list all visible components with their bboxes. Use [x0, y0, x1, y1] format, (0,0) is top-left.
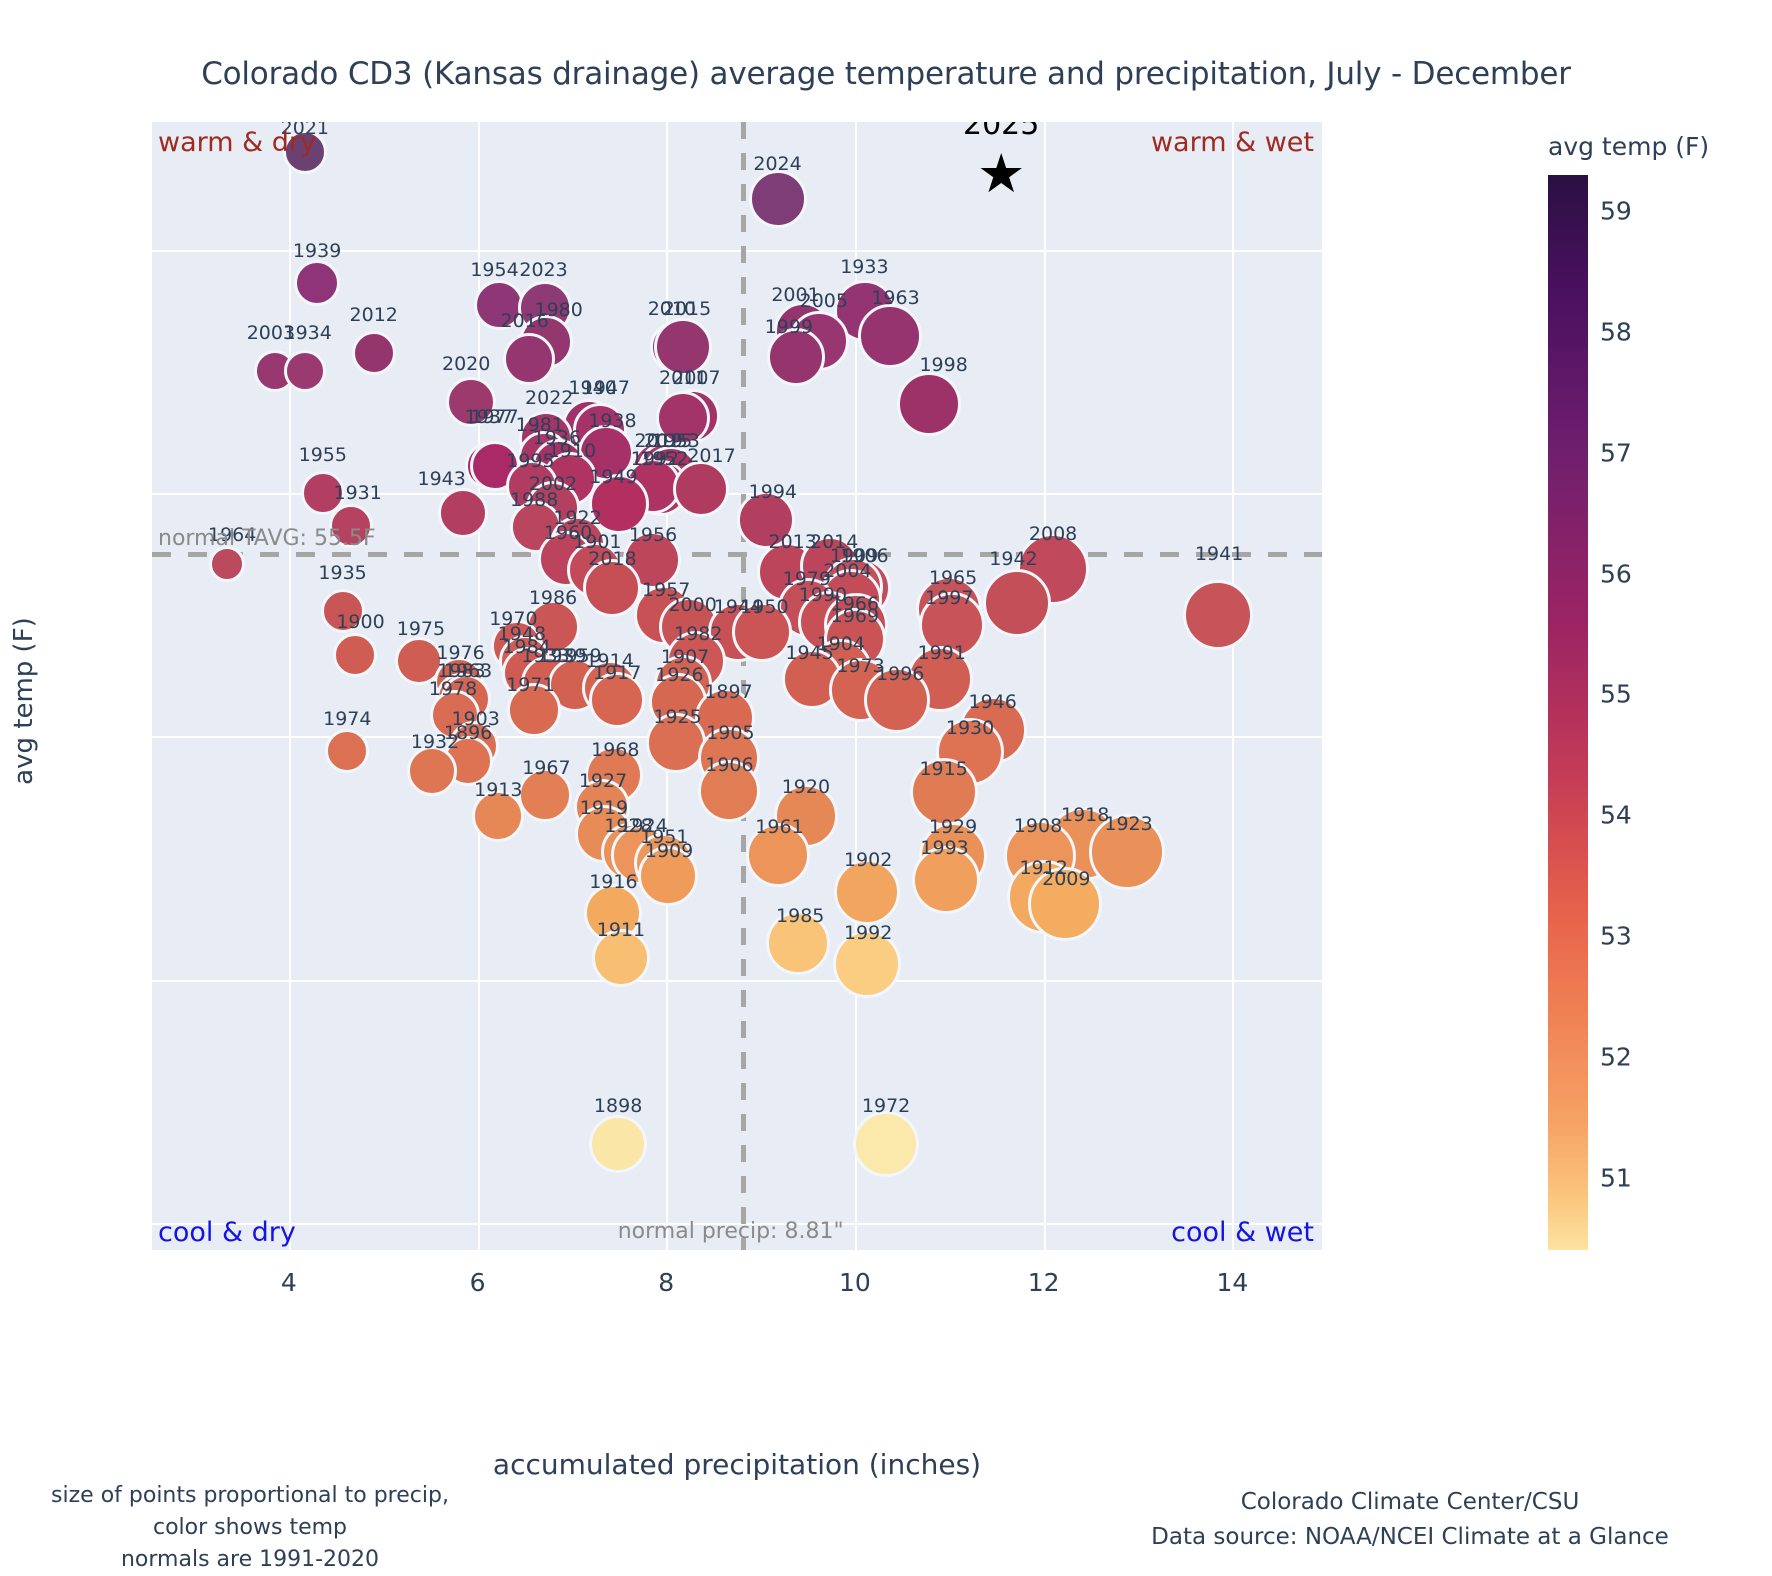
colorbar-title: avg temp (F) [1548, 132, 1709, 161]
colorbar-tick-label: 58 [1600, 318, 1632, 347]
data-point-label: 1995 [506, 452, 554, 471]
data-point[interactable] [333, 633, 377, 677]
colorbar-tick-label: 59 [1600, 197, 1632, 226]
normal-temp-line [152, 552, 1322, 557]
colorbar-tick-label: 55 [1600, 680, 1632, 709]
x-tick-label: 8 [658, 1268, 674, 1297]
data-point-label: 1910 [548, 442, 596, 461]
data-point-label: 1939 [293, 242, 341, 261]
data-point-label: 2008 [1029, 525, 1077, 544]
data-point-label: 1906 [705, 756, 753, 775]
data-point-label: 1947 [582, 379, 630, 398]
data-point-label: 1994 [749, 483, 797, 502]
data-point[interactable] [325, 729, 369, 773]
quadrant-label-warm-wet: warm & wet [1151, 127, 1314, 158]
colorbar-gradient [1548, 175, 1588, 1250]
colorbar-tick-label: 57 [1600, 438, 1632, 467]
data-point-label: 1913 [474, 781, 522, 800]
data-point-label: 1946 [969, 693, 1017, 712]
data-point-label: 1956 [629, 526, 677, 545]
data-point-label: 1963 [871, 289, 919, 308]
highlight-star-label: 2025 [963, 122, 1039, 142]
colorbar-tick-label: 56 [1600, 559, 1632, 588]
data-point[interactable] [897, 372, 961, 436]
colorbar-tick-label: 54 [1600, 801, 1632, 830]
data-point-label: 1911 [597, 921, 645, 940]
data-point-label: 1993 [920, 839, 968, 858]
data-point-label: 1932 [411, 733, 459, 752]
data-point-label: 1927 [579, 772, 627, 791]
data-point-label: 1920 [782, 778, 830, 797]
data-point-label: 2018 [588, 550, 636, 569]
note-line: size of points proportional to precip, [40, 1480, 460, 1512]
data-point[interactable] [983, 569, 1051, 637]
notes-left: size of points proportional to precip,co… [40, 1480, 460, 1576]
data-point-label: 1923 [1104, 815, 1152, 834]
data-point-label: 1915 [919, 760, 967, 779]
note-line: normals are 1991-2020 [40, 1544, 460, 1576]
data-point-label: 1954 [470, 261, 518, 280]
data-point-label: 1985 [776, 907, 824, 926]
data-point-label: 1986 [529, 589, 577, 608]
data-point-label: 2017 [687, 447, 735, 466]
data-point-label: 1929 [929, 818, 977, 837]
data-point-label: 1965 [929, 569, 977, 588]
x-tick-label: 6 [470, 1268, 486, 1297]
data-point-label: 2023 [519, 261, 567, 280]
data-point[interactable] [749, 170, 807, 228]
data-point-label: 1971 [506, 676, 554, 695]
data-point[interactable] [503, 333, 555, 385]
data-point-label: 2011 [659, 369, 707, 388]
x-tick-label: 10 [839, 1268, 871, 1297]
data-point-label: 1917 [593, 664, 641, 683]
data-point-label: 2024 [753, 155, 801, 174]
plot-area: 2021202419391954202319332001196320051980… [152, 122, 1322, 1250]
note-line: Data source: NOAA/NCEI Climate at a Glan… [1130, 1520, 1690, 1555]
data-point-label: 1934 [283, 324, 331, 343]
chart-root: Colorado CD3 (Kansas drainage) average t… [0, 0, 1772, 1564]
data-point[interactable] [294, 260, 340, 306]
data-point-label: 1968 [591, 741, 639, 760]
data-point-label: 1991 [918, 644, 966, 663]
data-point[interactable] [589, 1115, 647, 1173]
highlight-star-icon: ★ [977, 147, 1025, 201]
data-point-label: 1996 [876, 665, 924, 684]
data-point[interactable] [673, 461, 729, 517]
data-point-label: 1933 [840, 258, 888, 277]
gridline-vertical [1044, 122, 1046, 1250]
data-point-label: 1978 [429, 680, 477, 699]
data-point-label: 1949 [589, 468, 637, 487]
data-point[interactable] [438, 488, 488, 538]
data-point-label: 1943 [417, 470, 465, 489]
data-point-label: 1977 [470, 408, 518, 427]
note-line: Colorado Climate Center/CSU [1130, 1485, 1690, 1520]
data-point-label: 1898 [594, 1097, 642, 1116]
data-point-label: 1997 [925, 589, 973, 608]
data-point-label: 1935 [318, 564, 366, 583]
y-axis-label: avg temp (F) [9, 481, 39, 921]
note-line: color shows temp [40, 1512, 460, 1544]
data-point-label: 2012 [350, 306, 398, 325]
data-point-label: 1945 [785, 644, 833, 663]
data-point-label: 1974 [323, 710, 371, 729]
colorbar [1548, 175, 1588, 1250]
data-point-label: 1950 [740, 598, 788, 617]
data-point-label: 2020 [442, 355, 490, 374]
gridline-horizontal [152, 980, 1322, 982]
data-point-label: 1916 [589, 873, 637, 892]
data-point-label: 1905 [706, 724, 754, 743]
quadrant-label-warm-dry: warm & dry [158, 127, 316, 158]
data-point-label: 1931 [334, 484, 382, 503]
data-point-label: 2015 [663, 300, 711, 319]
data-point-label: 1926 [655, 666, 703, 685]
data-point-label: 2009 [1042, 870, 1090, 889]
gridline-vertical [1232, 122, 1234, 1250]
data-point-label: 1982 [674, 625, 722, 644]
data-point-label: 1897 [704, 683, 752, 702]
data-point-label: 1992 [631, 450, 679, 469]
colorbar-tick-label: 51 [1600, 1163, 1632, 1192]
data-point-label: 2005 [800, 292, 848, 311]
data-point-label: 2016 [501, 312, 549, 331]
colorbar-tick-label: 53 [1600, 921, 1632, 950]
data-point-label: 1961 [755, 818, 803, 837]
data-point-label: 1967 [522, 759, 570, 778]
data-point-label: 1955 [299, 446, 347, 465]
data-point-label: 1998 [919, 356, 967, 375]
data-point-label: 2022 [525, 389, 573, 408]
x-tick-label: 4 [281, 1268, 297, 1297]
data-point-label: 1925 [653, 708, 701, 727]
data-point-label: 1972 [862, 1097, 910, 1116]
data-point-label: 1941 [1195, 545, 1243, 564]
quadrant-label-cool-wet: cool & wet [1171, 1217, 1314, 1248]
data-point-label: 1900 [336, 613, 384, 632]
x-tick-label: 12 [1028, 1268, 1060, 1297]
data-point-label: 1938 [588, 412, 636, 431]
data-point-label: 1902 [844, 851, 892, 870]
normal-temp-label: normal TAVG: 55.5F [158, 526, 376, 551]
data-point[interactable] [858, 304, 922, 368]
data-point[interactable] [1183, 580, 1253, 650]
data-point[interactable] [284, 350, 326, 392]
data-point[interactable] [352, 331, 396, 375]
x-tick-label: 14 [1216, 1268, 1248, 1297]
data-point[interactable] [209, 546, 245, 582]
data-point-label: 1988 [510, 491, 558, 510]
data-point-label: 1909 [645, 842, 693, 861]
colorbar-tick-label: 52 [1600, 1042, 1632, 1071]
normal-precip-label: normal precip: 8.81" [618, 1219, 844, 1244]
page-title: Colorado CD3 (Kansas drainage) average t… [0, 56, 1772, 92]
data-point[interactable] [853, 1111, 919, 1177]
data-point-label: 2000 [668, 596, 716, 615]
data-point-label: 1975 [397, 620, 445, 639]
x-axis-label: accumulated precipitation (inches) [152, 1448, 1322, 1481]
data-point-label: 1930 [946, 719, 994, 738]
data-point-label: 1992 [844, 924, 892, 943]
data-point-label: 1969 [831, 607, 879, 626]
data-point-label: 1918 [1061, 806, 1109, 825]
data-point-label: 1908 [1014, 817, 1062, 836]
data-point-label: 1999 [765, 318, 813, 337]
quadrant-label-cool-dry: cool & dry [158, 1217, 296, 1248]
notes-right: Colorado Climate Center/CSUData source: … [1130, 1485, 1690, 1554]
data-point-label: 1942 [989, 550, 1037, 569]
gridline-vertical [289, 122, 291, 1250]
